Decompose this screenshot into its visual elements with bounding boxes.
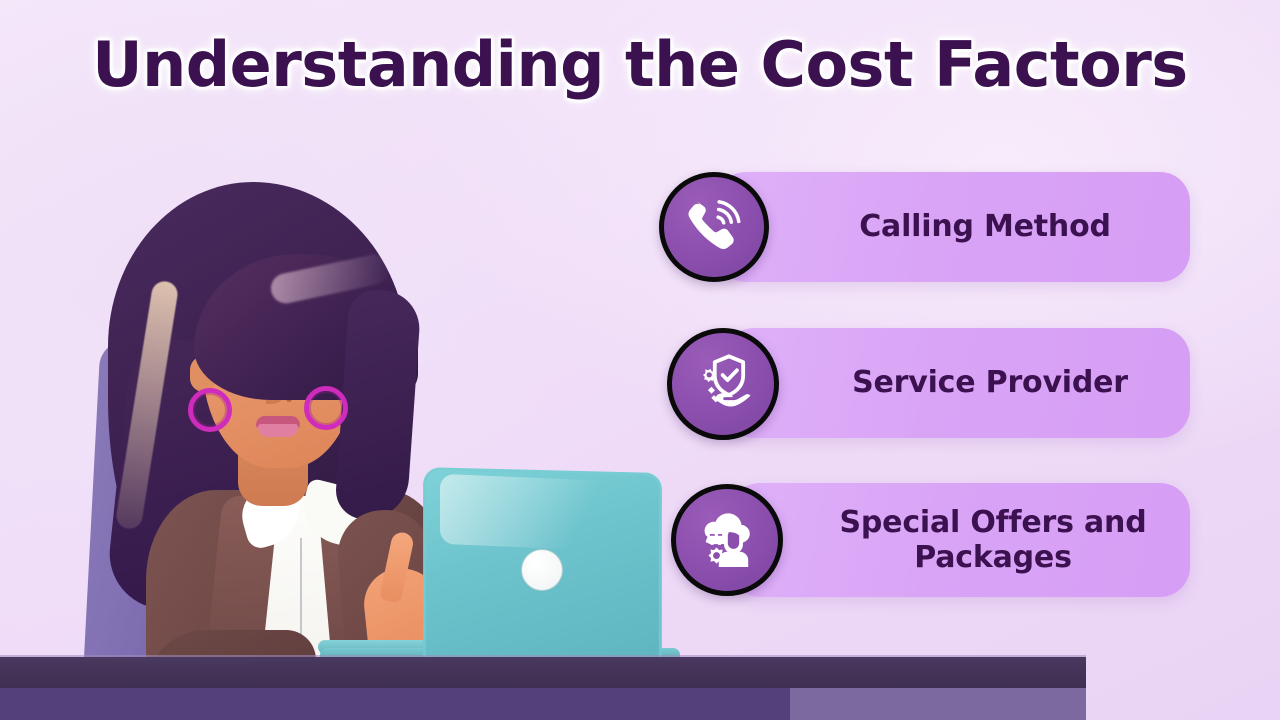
cost-factors-list: Calling Method Service Provider [0, 0, 1280, 720]
phone-call-icon [659, 172, 769, 282]
infographic-canvas: Understanding the Cost Factors [0, 0, 1280, 720]
cloud-person-gear-icon [671, 484, 783, 596]
list-item-label-line-2: Packages [914, 540, 1071, 575]
list-item-label: Special Offers and Packages [796, 483, 1190, 597]
list-item-label: Service Provider [790, 328, 1190, 438]
list-item-label: Calling Method [780, 172, 1190, 282]
shield-check-hand-gear-icon [667, 328, 779, 440]
list-item-label-line-1: Special Offers and [840, 505, 1147, 540]
